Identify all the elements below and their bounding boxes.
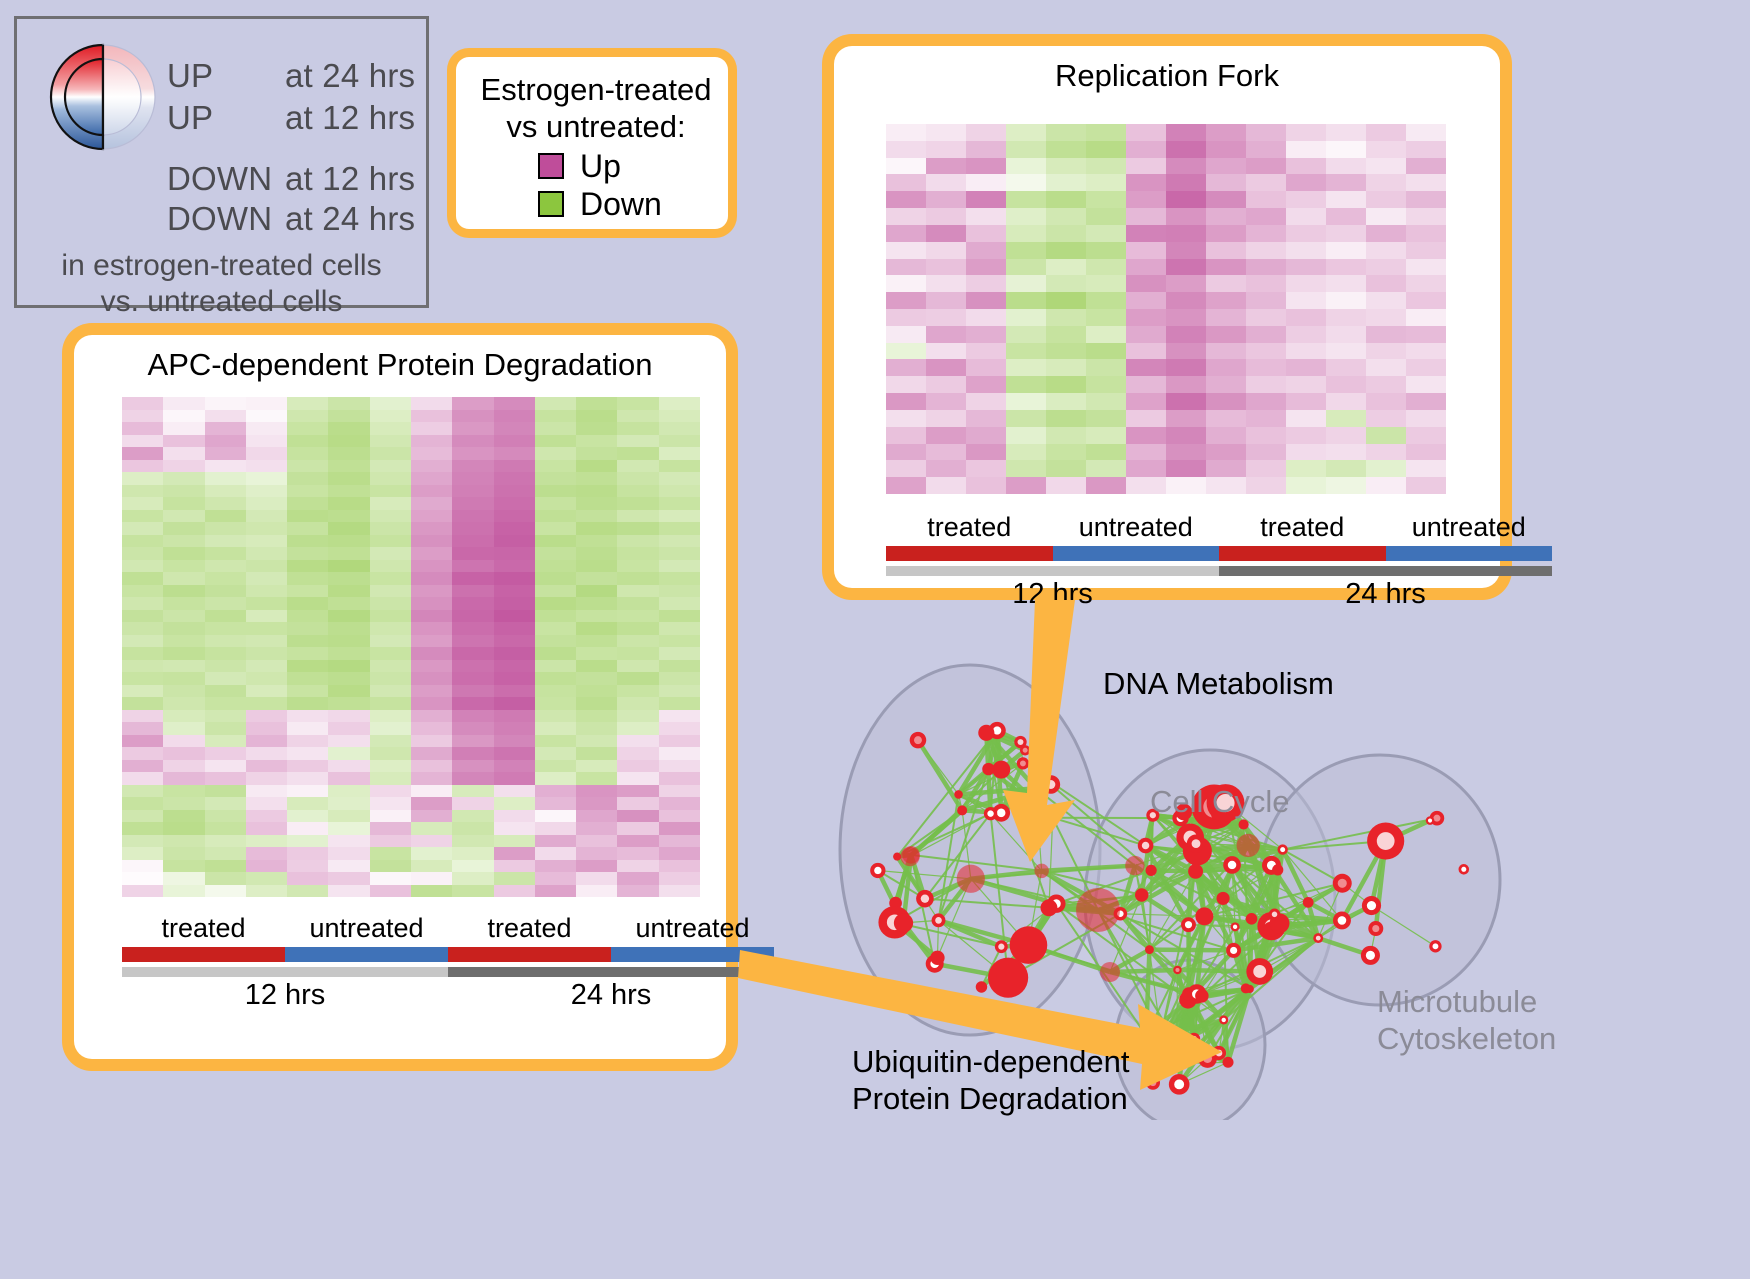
heatmap-cell	[1046, 141, 1086, 158]
heatmap-cell	[163, 572, 204, 585]
heatmap-cell	[494, 485, 535, 498]
heatmap-cell	[452, 735, 493, 748]
heatmap-cell	[205, 722, 246, 735]
axis-group-names-apc: treated untreated treated untreated	[122, 913, 774, 944]
heatmap-cell	[535, 610, 576, 623]
heatmap-cell	[926, 208, 966, 225]
heatmap-cell	[1206, 376, 1246, 393]
heatmap-cell	[163, 822, 204, 835]
heatmap-cell	[411, 485, 452, 498]
network-node[interactable]	[894, 913, 913, 932]
heatmap-cell	[1046, 208, 1086, 225]
heatmap-cell	[659, 397, 700, 410]
heatmap-cell	[246, 397, 287, 410]
heatmap-cell	[1086, 477, 1126, 494]
network-node[interactable]	[1272, 864, 1283, 875]
network-node[interactable]	[1145, 945, 1154, 954]
heatmap-cell	[1086, 393, 1126, 410]
heatmap-cell	[1086, 259, 1126, 276]
network-node[interactable]	[957, 865, 985, 893]
heatmap-cell	[163, 472, 204, 485]
network-node[interactable]	[992, 761, 1010, 779]
heatmap-cell	[1126, 460, 1166, 477]
heatmap-cell	[287, 872, 328, 885]
heatmap-cell	[1046, 326, 1086, 343]
heatmap-cell	[576, 822, 617, 835]
heatmap-cell	[576, 422, 617, 435]
heatmap-cell	[1366, 444, 1406, 461]
heatmap-cell	[535, 797, 576, 810]
heatmap-cell	[576, 610, 617, 623]
heatmap-cell	[1366, 242, 1406, 259]
microtubule-line2: Cytoskeleton	[1377, 1020, 1527, 1057]
heatmap-cell	[370, 497, 411, 510]
heatmap-cell	[1366, 124, 1406, 141]
heatmap-cell	[452, 510, 493, 523]
heatmap-cell	[205, 522, 246, 535]
timepoint-labels-apc: 12 hrs 24 hrs	[122, 979, 774, 1012]
heatmap-cell	[1006, 359, 1046, 376]
heatmap-cell	[1006, 259, 1046, 276]
heatmap-cell	[617, 797, 658, 810]
heatmap-cell	[1086, 343, 1126, 360]
network-node[interactable]	[1034, 864, 1048, 878]
heatmap-cell	[659, 422, 700, 435]
heatmap-cell	[886, 259, 926, 276]
heatmap-cell	[1126, 208, 1166, 225]
axis-replication-fork: treated untreated treated untreated 12 h…	[834, 512, 1604, 611]
heatmap-cell	[494, 497, 535, 510]
network-node[interactable]	[1010, 926, 1048, 964]
heatmap-cell	[205, 660, 246, 673]
heatmap-cell	[1326, 376, 1366, 393]
heatmap-cell	[576, 635, 617, 648]
heatmap-cell	[659, 747, 700, 760]
heatmap-cell	[659, 660, 700, 673]
heatmap-cell	[163, 760, 204, 773]
heatmap-cell	[1406, 259, 1446, 276]
heatmap-cell	[1206, 326, 1246, 343]
heatmap-cell	[246, 522, 287, 535]
heatmap-cell	[122, 397, 163, 410]
heatmap-cell	[287, 660, 328, 673]
heatmap-cell	[452, 597, 493, 610]
heatmap-cell	[1286, 376, 1326, 393]
apc-title: APC-dependent Protein Degradation	[74, 335, 726, 383]
legend-footnote-line2: vs. untreated cells	[17, 284, 426, 320]
heatmap-cell	[122, 547, 163, 560]
heatmap-cell	[1206, 208, 1246, 225]
heatmap-cell	[926, 275, 966, 292]
heatmap-cell	[617, 872, 658, 885]
heatmap-cell	[205, 847, 246, 860]
heatmap-cell	[246, 422, 287, 435]
heatmap-cell	[1206, 292, 1246, 309]
heatmap-cell	[494, 622, 535, 635]
heatmap-cell	[1166, 225, 1206, 242]
heatmap-cell	[576, 885, 617, 898]
heatmap-cell	[163, 772, 204, 785]
heatmap-cell	[926, 174, 966, 191]
heatmap-cell	[287, 472, 328, 485]
heatmap-cell	[122, 722, 163, 735]
heatmap-cell	[886, 427, 926, 444]
network-node[interactable]	[1237, 834, 1260, 857]
heatmap-cell	[411, 397, 452, 410]
heatmap-cell	[1166, 259, 1206, 276]
network-node[interactable]	[1303, 897, 1314, 908]
heatmap-cell	[1406, 393, 1446, 410]
heatmap-cell	[205, 597, 246, 610]
heatmap-cell	[163, 810, 204, 823]
heatmap-cell	[966, 444, 1006, 461]
cluster-label-microtubule-cytoskeleton: Microtubule Cytoskeleton	[1377, 983, 1527, 1057]
heatmap-cell	[122, 497, 163, 510]
heatmap-cell	[1286, 309, 1326, 326]
heatmap-cell	[246, 635, 287, 648]
heatmap-cell	[494, 460, 535, 473]
legend-time-0: at 24 hrs	[285, 57, 415, 95]
network-node[interactable]	[900, 847, 919, 866]
heatmap-cell	[1206, 225, 1246, 242]
network-node[interactable]	[1076, 888, 1120, 932]
heatmap-cell	[576, 722, 617, 735]
heatmap-cell	[205, 585, 246, 598]
heatmap-cell	[966, 326, 1006, 343]
heatmap-cell	[122, 647, 163, 660]
heatmap-cell	[452, 685, 493, 698]
heatmap-cell	[966, 410, 1006, 427]
network-node[interactable]	[1188, 864, 1203, 879]
heatmap-cell	[494, 522, 535, 535]
heatmap-cell	[370, 647, 411, 660]
heatmap-cell	[576, 397, 617, 410]
heatmap-cell	[535, 422, 576, 435]
heatmap-cell	[494, 510, 535, 523]
heatmap-cell	[370, 585, 411, 598]
heatmap-cell	[926, 376, 966, 393]
heatmap-cell	[163, 397, 204, 410]
heatmap-cell	[1046, 460, 1086, 477]
heatmap-cell	[576, 535, 617, 548]
heatmap-cell	[1006, 124, 1046, 141]
heatmap-cell	[452, 797, 493, 810]
heatmap-cell	[1366, 174, 1406, 191]
heatmap-cell	[246, 710, 287, 723]
network-node[interactable]	[978, 725, 994, 741]
heatmap-cell	[576, 660, 617, 673]
network-node[interactable]	[1195, 989, 1208, 1002]
heatmap-cell	[452, 760, 493, 773]
heatmap-cell	[328, 485, 369, 498]
heatmap-cell	[617, 622, 658, 635]
heatmap-cell	[287, 747, 328, 760]
heatmap-cell	[452, 747, 493, 760]
heatmap-cell	[1246, 477, 1286, 494]
heatmap-cell	[122, 747, 163, 760]
heatmap-cell	[370, 835, 411, 848]
up-color-swatch	[538, 153, 564, 179]
heatmap-cell	[617, 685, 658, 698]
heatmap-cell	[494, 822, 535, 835]
heatmap-cell	[370, 685, 411, 698]
heatmap-cell	[1006, 208, 1046, 225]
heatmap-cell	[494, 672, 535, 685]
heatmap-cell	[1046, 275, 1086, 292]
heatmap-cell	[1046, 158, 1086, 175]
heatmap-cell	[659, 560, 700, 573]
heatmap-cell	[1166, 376, 1206, 393]
network-node[interactable]	[1195, 907, 1213, 925]
heatmap-cell	[966, 393, 1006, 410]
timepoint-1: 24 hrs	[448, 979, 774, 1012]
heatmap-cell	[494, 772, 535, 785]
heatmap-cell	[122, 860, 163, 873]
heatmap-cell	[535, 835, 576, 848]
heatmap-cell	[370, 722, 411, 735]
heatmap-cell	[328, 622, 369, 635]
heatmap-cell	[205, 622, 246, 635]
heatmap-cell	[122, 435, 163, 448]
heatmap-cell	[535, 822, 576, 835]
heatmap-cell	[205, 710, 246, 723]
heatmap-cell	[617, 460, 658, 473]
cluster-label-dna-metabolism: DNA Metabolism	[1103, 665, 1334, 702]
axis-group-0: treated	[122, 913, 285, 944]
heatmap-cell	[1206, 158, 1246, 175]
heatmap-cell	[494, 447, 535, 460]
heatmap-cell	[287, 585, 328, 598]
heatmap-cell	[659, 885, 700, 898]
timepoint-0: 12 hrs	[886, 578, 1219, 611]
heatmap-cell	[452, 522, 493, 535]
bar-12hrs	[886, 566, 1219, 576]
heatmap-cell	[1366, 343, 1406, 360]
heatmap-cell	[205, 785, 246, 798]
heatmap-cell	[576, 510, 617, 523]
heatmap-cell	[617, 847, 658, 860]
heatmap-cell	[1166, 359, 1206, 376]
heatmap-cell	[163, 597, 204, 610]
heatmap-cell	[1046, 359, 1086, 376]
heatmap-cell	[1246, 444, 1286, 461]
network-node[interactable]	[893, 853, 901, 861]
heatmap-cell	[452, 472, 493, 485]
heatmap-cell	[163, 435, 204, 448]
heatmap-cell	[287, 447, 328, 460]
heatmap-cell	[122, 797, 163, 810]
heatmap-cell	[1406, 427, 1446, 444]
heatmap-cell	[494, 572, 535, 585]
heatmap-cell	[163, 735, 204, 748]
heatmap-cell	[328, 785, 369, 798]
heatmap-cell	[411, 422, 452, 435]
timepoint-labels-rf: 12 hrs 24 hrs	[886, 578, 1552, 611]
heatmap-cell	[205, 772, 246, 785]
network-node[interactable]	[982, 763, 994, 775]
heatmap-cell	[966, 208, 1006, 225]
heatmap-cell	[966, 376, 1006, 393]
network-node[interactable]	[1100, 962, 1120, 982]
heatmap-cell	[617, 885, 658, 898]
heatmap-cell	[246, 760, 287, 773]
heatmap-cell	[328, 810, 369, 823]
heatmap-cell	[411, 410, 452, 423]
heatmap-cell	[452, 872, 493, 885]
heatmap-cell	[411, 647, 452, 660]
heatmap-cell	[659, 872, 700, 885]
heatmap-cell	[122, 772, 163, 785]
heatmap-cell	[1126, 393, 1166, 410]
heatmap-cell	[452, 635, 493, 648]
heatmap-cell	[1286, 242, 1326, 259]
heatmap-cell	[617, 710, 658, 723]
heatmap-cell	[1006, 191, 1046, 208]
network-node[interactable]	[1125, 856, 1144, 875]
heatmap-cell	[1206, 393, 1246, 410]
network-node[interactable]	[930, 951, 944, 965]
heatmap-cell	[246, 685, 287, 698]
heatmap-cell	[576, 647, 617, 660]
heatmap-cell	[926, 259, 966, 276]
cluster-label-ubiquitin-degradation: Ubiquitin-dependent Protein Degradation	[852, 1043, 1130, 1117]
heatmap-cell	[328, 710, 369, 723]
heatmap-cell	[122, 485, 163, 498]
heatmap-cell	[328, 572, 369, 585]
key-title-line2: vs untreated:	[474, 108, 718, 145]
heatmap-cell	[1406, 359, 1446, 376]
updown-key-box: Estrogen-treated vs untreated: Up Down	[447, 48, 737, 238]
heatmap-cell	[886, 124, 926, 141]
heatmap-cell	[494, 697, 535, 710]
heatmap-cell	[494, 885, 535, 898]
heatmap-cell	[535, 810, 576, 823]
network-node[interactable]	[1041, 899, 1058, 916]
heatmap-cell	[122, 610, 163, 623]
heatmap-cell	[966, 191, 1006, 208]
heatmap-cell	[163, 485, 204, 498]
network-node[interactable]	[954, 790, 963, 799]
network-node[interactable]	[1216, 892, 1229, 905]
heatmap-cell	[966, 174, 1006, 191]
network-node[interactable]	[1146, 865, 1157, 876]
heatmap-cell	[659, 685, 700, 698]
heatmap-cell	[328, 522, 369, 535]
heatmap-cell	[1246, 427, 1286, 444]
heatmap-cell	[617, 660, 658, 673]
heatmap-cell	[1126, 275, 1166, 292]
heatmap-cell	[1206, 309, 1246, 326]
heatmap-cell	[1126, 326, 1166, 343]
heatmap-cell	[1086, 359, 1126, 376]
heatmap-cell	[617, 510, 658, 523]
heatmap-cell	[966, 242, 1006, 259]
heatmap-cell	[328, 597, 369, 610]
heatmap-cell	[328, 660, 369, 673]
heatmap-cell	[163, 410, 204, 423]
heatmap-cell	[411, 435, 452, 448]
network-node[interactable]	[988, 958, 1028, 998]
heatmap-cell	[1086, 410, 1126, 427]
heatmap-cell	[370, 510, 411, 523]
heatmap-cell	[1006, 477, 1046, 494]
heatmap-cell	[659, 635, 700, 648]
heatmap-cell	[1406, 174, 1446, 191]
heatmap-cell	[659, 547, 700, 560]
heatmap-cell	[1126, 410, 1166, 427]
heatmap-cell	[452, 860, 493, 873]
heatmap-cell	[370, 610, 411, 623]
heatmap-cell	[205, 560, 246, 573]
heatmap-cell	[926, 158, 966, 175]
heatmap-cell	[163, 685, 204, 698]
heatmap-cell	[617, 397, 658, 410]
heatmap-cell	[659, 785, 700, 798]
heatmap-cell	[617, 597, 658, 610]
network-node[interactable]	[1239, 819, 1249, 829]
heatmap-replication-fork	[886, 124, 1446, 494]
heatmap-cell	[1246, 460, 1286, 477]
heatmap-cell	[1326, 158, 1366, 175]
heatmap-cell	[163, 872, 204, 885]
heatmap-cell	[1286, 326, 1326, 343]
heatmap-cell	[617, 497, 658, 510]
heatmap-cell	[1326, 477, 1366, 494]
network-node[interactable]	[1241, 983, 1251, 993]
heatmap-cell	[1326, 326, 1366, 343]
heatmap-cell	[576, 410, 617, 423]
heatmap-cell	[617, 785, 658, 798]
heatmap-cell	[370, 447, 411, 460]
heatmap-cell	[1046, 309, 1086, 326]
heatmap-cell	[370, 635, 411, 648]
heatmap-cell	[1406, 376, 1446, 393]
heatmap-cell	[886, 376, 926, 393]
heatmap-cell	[535, 647, 576, 660]
heatmap-cell	[452, 410, 493, 423]
heatmap-cell	[535, 772, 576, 785]
heatmap-cell	[576, 435, 617, 448]
heatmap-cell	[246, 747, 287, 760]
heatmap-cell	[659, 535, 700, 548]
heatmap-cell	[1286, 359, 1326, 376]
heatmap-cell	[205, 760, 246, 773]
network-node[interactable]	[1246, 913, 1258, 925]
heatmap-cell	[1406, 292, 1446, 309]
heatmap-cell	[411, 472, 452, 485]
heatmap-cell	[411, 610, 452, 623]
heatmap-cell	[1046, 225, 1086, 242]
heatmap-cell	[122, 710, 163, 723]
heatmap-cell	[1006, 242, 1046, 259]
network-node[interactable]	[976, 981, 987, 992]
heatmap-cell	[1246, 326, 1286, 343]
heatmap-cell	[1046, 191, 1086, 208]
heatmap-cell	[287, 635, 328, 648]
heatmap-cell	[535, 735, 576, 748]
network-node[interactable]	[957, 805, 967, 815]
heatmap-cell	[411, 697, 452, 710]
network-node[interactable]	[1223, 1057, 1234, 1068]
heatmap-cell	[886, 275, 926, 292]
heatmap-cell	[205, 535, 246, 548]
heatmap-cell	[1326, 359, 1366, 376]
heatmap-cell	[494, 560, 535, 573]
heatmap-cell	[163, 797, 204, 810]
network-node[interactable]	[1135, 888, 1148, 901]
heatmap-cell	[1206, 259, 1246, 276]
heatmap-cell	[452, 460, 493, 473]
